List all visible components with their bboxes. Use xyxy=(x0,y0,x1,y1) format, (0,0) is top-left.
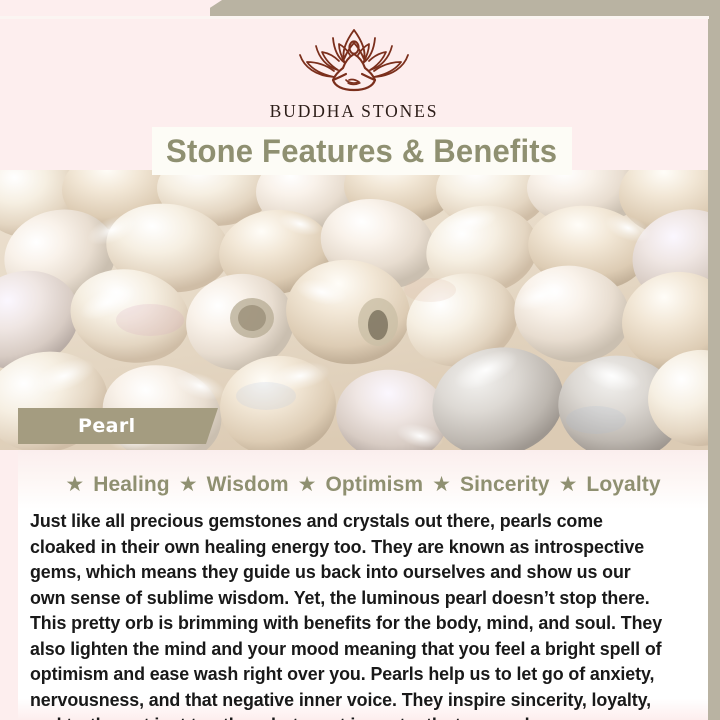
star-icon: ★ xyxy=(432,474,451,495)
benefit-label-sincerity: Sincerity xyxy=(460,473,550,497)
benefit-label-healing: Healing xyxy=(93,473,170,497)
benefit-label-optimism: Optimism xyxy=(325,473,423,497)
stone-description: Just like all precious gemstones and cry… xyxy=(30,508,669,720)
stone-name-banner: Pearl xyxy=(18,408,218,444)
star-icon: ★ xyxy=(298,474,317,495)
brand-name: BUDDHA STONES xyxy=(270,101,439,122)
star-icon: ★ xyxy=(65,474,84,495)
star-icon: ★ xyxy=(179,474,198,495)
beige-band-left-cutout xyxy=(0,0,210,17)
star-icon: ★ xyxy=(559,474,578,495)
stone-name: Pearl xyxy=(78,415,136,437)
stone-features-infographic: BUDDHA STONES Stone Features & Benefits xyxy=(0,0,720,720)
benefits-row: ★ Healing ★ Wisdom ★ Optimism ★ Sincerit… xyxy=(18,450,708,506)
content-panel: ★ Healing ★ Wisdom ★ Optimism ★ Sincerit… xyxy=(18,450,708,720)
benefit-label-wisdom: Wisdom xyxy=(207,473,289,497)
title-plaque: Stone Features & Benefits xyxy=(152,127,572,175)
benefit-label-loyalty: Loyalty xyxy=(586,473,660,497)
lotus-meditation-icon xyxy=(276,25,432,97)
page-title: Stone Features & Benefits xyxy=(166,133,557,170)
